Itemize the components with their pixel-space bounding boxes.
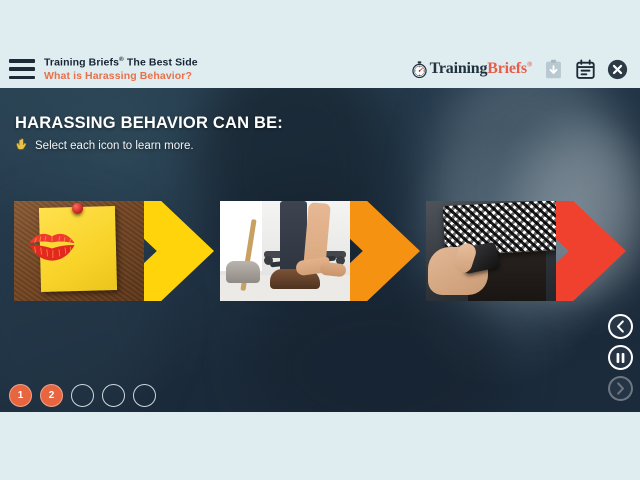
hamburger-bar [9,67,35,71]
card-2-under-desk[interactable] [220,201,420,301]
card-1-image [14,201,144,301]
player-controls [608,314,633,401]
download-resources-icon[interactable] [543,59,564,80]
card-3-image [426,201,556,301]
pointing-hand-icon [15,138,29,153]
logo-word-briefs: Briefs [487,60,527,77]
lipstick-kiss-mark [26,225,78,265]
course-title-text: Training Briefs [44,57,119,69]
second-bare-foot [319,262,346,278]
stopwatch-icon [411,61,428,78]
pagination: 1 2 3 4 5 [9,384,156,407]
hamburger-menu-icon[interactable] [9,59,35,79]
next-button [608,376,633,401]
chair-caster [264,256,273,265]
course-title: Training Briefs® The Best Side [44,56,198,69]
notes-icon[interactable] [575,59,596,80]
card-1-sticky-note[interactable] [14,201,214,301]
hamburger-bar [9,76,35,80]
neighbor-boot [226,261,260,283]
close-icon[interactable] [607,59,628,80]
logo-wordmark: TrainingBriefs® [430,60,532,78]
chevron-right-icon [615,382,626,395]
previous-button[interactable] [608,314,633,339]
logo-registered-mark: ® [527,61,532,69]
course-player: Training Briefs® The Best Side What is H… [0,0,640,480]
card-3-phone-under-skirt[interactable] [426,201,626,301]
slide-text-block: HARASSING BEHAVIOR CAN BE: Select each i… [15,114,283,153]
slide-headline: HARASSING BEHAVIOR CAN BE: [15,114,283,133]
pause-icon [615,352,626,364]
pagination-dot-3[interactable]: 3 [71,384,94,407]
push-pin-icon [72,203,83,214]
pagination-dot-2[interactable]: 2 [40,384,63,407]
pagination-dot-4[interactable]: 4 [102,384,125,407]
header-actions: TrainingBriefs® [411,59,640,80]
pagination-dot-5[interactable]: 5 [133,384,156,407]
card-row [0,201,640,306]
slide-instruction: Select each icon to learn more. [35,140,194,152]
card-2-image [220,201,350,301]
title-block: Training Briefs® The Best Side What is H… [44,56,198,82]
pause-button[interactable] [608,345,633,370]
logo-word-training: Training [430,60,488,77]
slide-instruction-row: Select each icon to learn more. [15,138,283,153]
chevron-left-icon [615,320,626,333]
player-header: Training Briefs® The Best Side What is H… [0,50,640,88]
hamburger-bar [9,59,35,63]
training-briefs-logo: TrainingBriefs® [411,60,532,78]
lesson-title[interactable]: What is Harassing Behavior? [44,70,198,82]
slide-stage: HARASSING BEHAVIOR CAN BE: Select each i… [0,88,640,412]
course-title-suffix: The Best Side [124,57,198,69]
pagination-dot-1[interactable]: 1 [9,384,32,407]
